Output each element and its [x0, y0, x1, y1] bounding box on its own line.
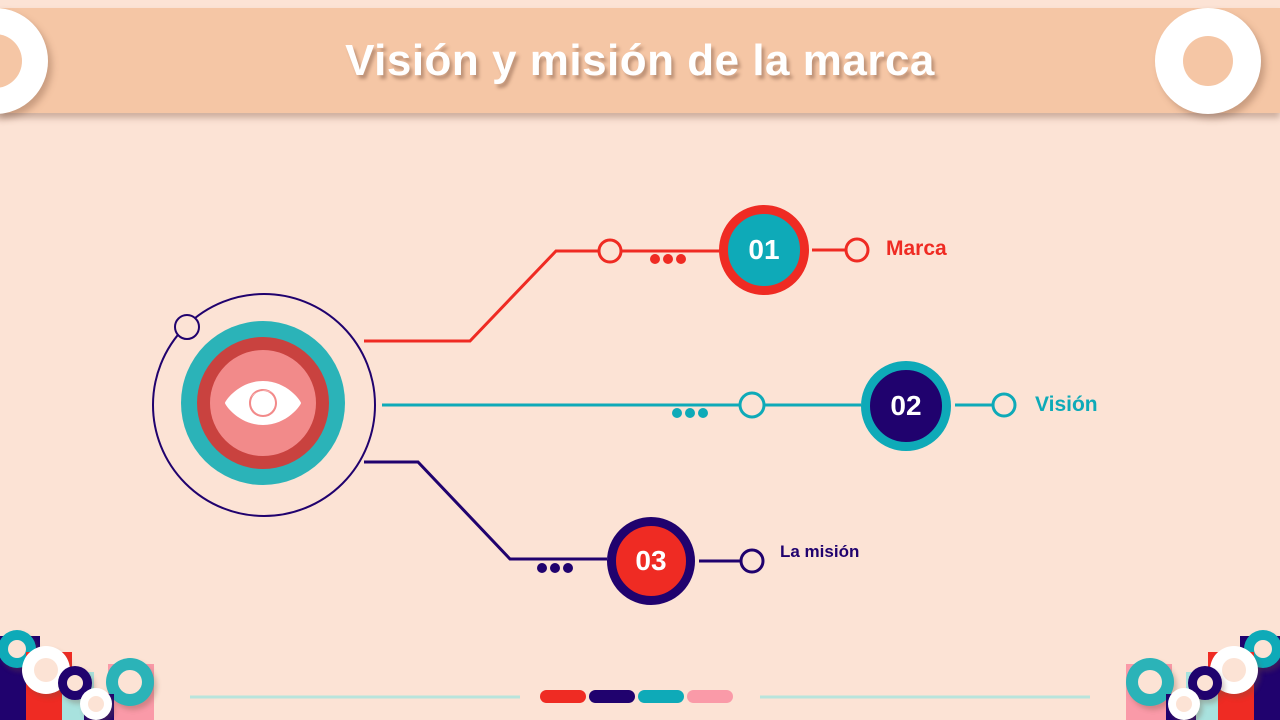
footer-pill-1[interactable] — [540, 690, 586, 703]
right-deco-ring-hole-4 — [1138, 670, 1162, 694]
left-deco-ring-hole-1 — [8, 640, 26, 658]
right-deco-ring-hole-2 — [1222, 658, 1246, 682]
slide-canvas: Visión y misión de la marca — [0, 0, 1280, 720]
left-deco-ring-hole-2 — [34, 658, 58, 682]
footer-pill-4[interactable] — [687, 690, 733, 703]
left-deco-ring-hole-5 — [88, 696, 104, 712]
left-deco-ring-hole-4 — [118, 670, 142, 694]
left-deco-ring-icon-5 — [80, 688, 112, 720]
right-deco-ring-hole-1 — [1254, 640, 1272, 658]
footer-pill-2[interactable] — [589, 690, 635, 703]
right-deco-ring-hole-5 — [1176, 696, 1192, 712]
footer-pill-3[interactable] — [638, 690, 684, 703]
footer-rules — [0, 0, 1280, 720]
right-deco-ring-hole-3 — [1197, 675, 1213, 691]
left-deco-ring-hole-3 — [67, 675, 83, 691]
right-deco-ring-icon-5 — [1168, 688, 1200, 720]
footer-pill-group — [540, 690, 740, 704]
